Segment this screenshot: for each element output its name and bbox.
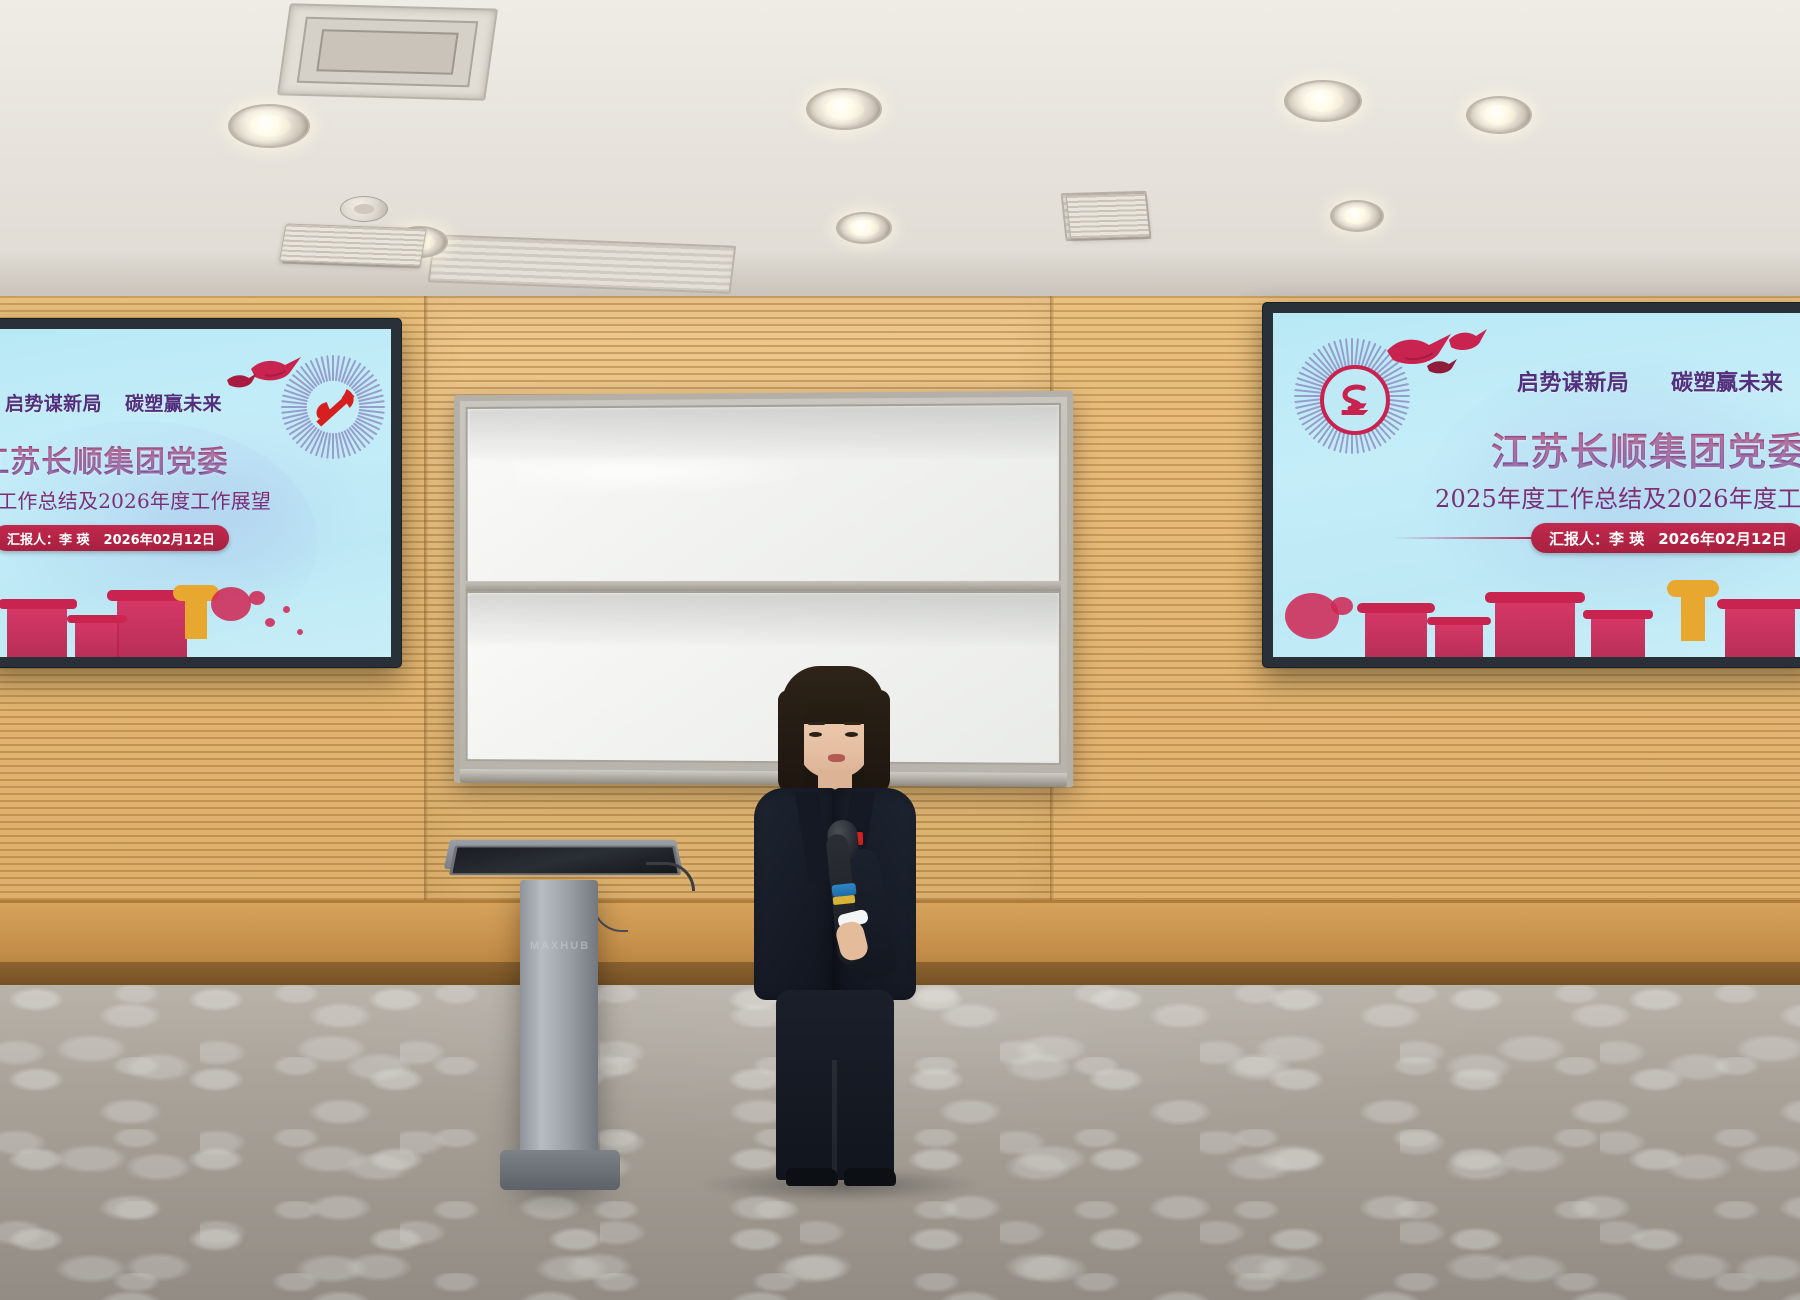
left-slide-tagline-1: 启势谋新局 [5,389,102,416]
whiteboard-highlight [514,456,819,496]
ceiling-speaker-right [1066,193,1150,239]
vent-core [359,41,416,62]
right-slide-tagline-1: 启势谋新局 [1517,365,1629,397]
ceiling-speaker-left [279,224,427,267]
presenter-blazer-left [754,788,838,1000]
wall-seam-left [424,296,428,996]
conference-room-photo: 启势谋新局 碳塑赢未来 江苏长顺集团党委 度工作总结及2026年度工作展望 汇报… [0,0,1800,1300]
whiteboard-panel-top[interactable] [466,403,1061,585]
reporter-rule [1391,537,1537,539]
lectern-base [500,1150,620,1190]
dove-icon-small [225,371,259,398]
left-slide-subtitle: 度工作总结及2026年度工作展望 [0,485,271,514]
left-slide-decoration [0,559,391,657]
left-display-panel[interactable]: 启势谋新局 碳塑赢未来 江苏长顺集团党委 度工作总结及2026年度工作展望 汇报… [0,329,391,657]
vent-louvers [430,236,734,292]
downlight [836,212,892,244]
right-reporter-date: 2026年02月12日 [1658,528,1787,549]
left-display[interactable]: 启势谋新局 碳塑赢未来 江苏长顺集团党委 度工作总结及2026年度工作展望 汇报… [0,318,402,668]
downlight [1284,80,1362,122]
right-slide-reporter-badge: 汇报人：李 瑛 2026年02月12日 [1531,523,1800,553]
whiteboard-divider [466,581,1061,591]
company-logo-icon [1320,365,1390,435]
presenter-shoe-left [786,1168,838,1186]
presenter [740,660,930,1180]
lectern-brand-label: MAXHUB [520,940,600,952]
presenter-eye-right [845,732,858,737]
lectern-body [520,880,598,1180]
dove-icon-3 [1425,357,1459,384]
whiteboard-glare [468,405,1059,460]
presenter-eye-left [809,732,822,737]
presenter-shoe-right [844,1168,896,1186]
left-slide: 启势谋新局 碳塑赢未来 江苏长顺集团党委 度工作总结及2026年度工作展望 汇报… [0,329,391,657]
right-slide-tagline-2: 碳塑赢未来 [1671,365,1783,397]
whiteboard-glare [468,593,1059,646]
right-slide: 启势谋新局 碳塑赢未来 江苏长顺集团党委 2025年度工作总结及2026年度工 … [1273,313,1800,657]
right-slide-subtitle: 2025年度工作总结及2026年度工 [1435,479,1800,514]
presenter-brow-left [808,722,825,725]
presenter-hair-right [864,690,890,794]
right-display[interactable]: 启势谋新局 碳塑赢未来 江苏长顺集团党委 2025年度工作总结及2026年度工 … [1262,302,1800,668]
left-slide-reporter-badge: 汇报人：李 瑛 2026年02月12日 [0,525,229,551]
right-slide-title: 江苏长顺集团党委 [1491,421,1800,476]
downlight [806,88,882,130]
left-reporter-date: 2026年02月12日 [104,529,215,548]
smoke-detector-icon [340,196,388,222]
left-slide-tagline-2: 碳塑赢未来 [125,389,222,416]
right-display-panel[interactable]: 启势谋新局 碳塑赢未来 江苏长顺集团党委 2025年度工作总结及2026年度工 … [1273,313,1800,657]
left-slide-title: 江苏长顺集团党委 [0,437,229,481]
ceiling-air-vent [277,3,498,100]
right-slide-decoration [1273,554,1800,657]
presenter-mouth [828,754,845,762]
presenter-leg-seam [832,1060,837,1180]
presenter-hair-left [778,690,804,794]
downlight [1466,96,1532,134]
presenter-brow-right [844,722,861,725]
party-emblem-icon [309,381,361,433]
left-reporter-label: 汇报人：李 瑛 [7,529,90,548]
downlight [1330,200,1384,232]
right-reporter-label: 汇报人：李 瑛 [1549,528,1644,549]
downlight [228,104,310,148]
